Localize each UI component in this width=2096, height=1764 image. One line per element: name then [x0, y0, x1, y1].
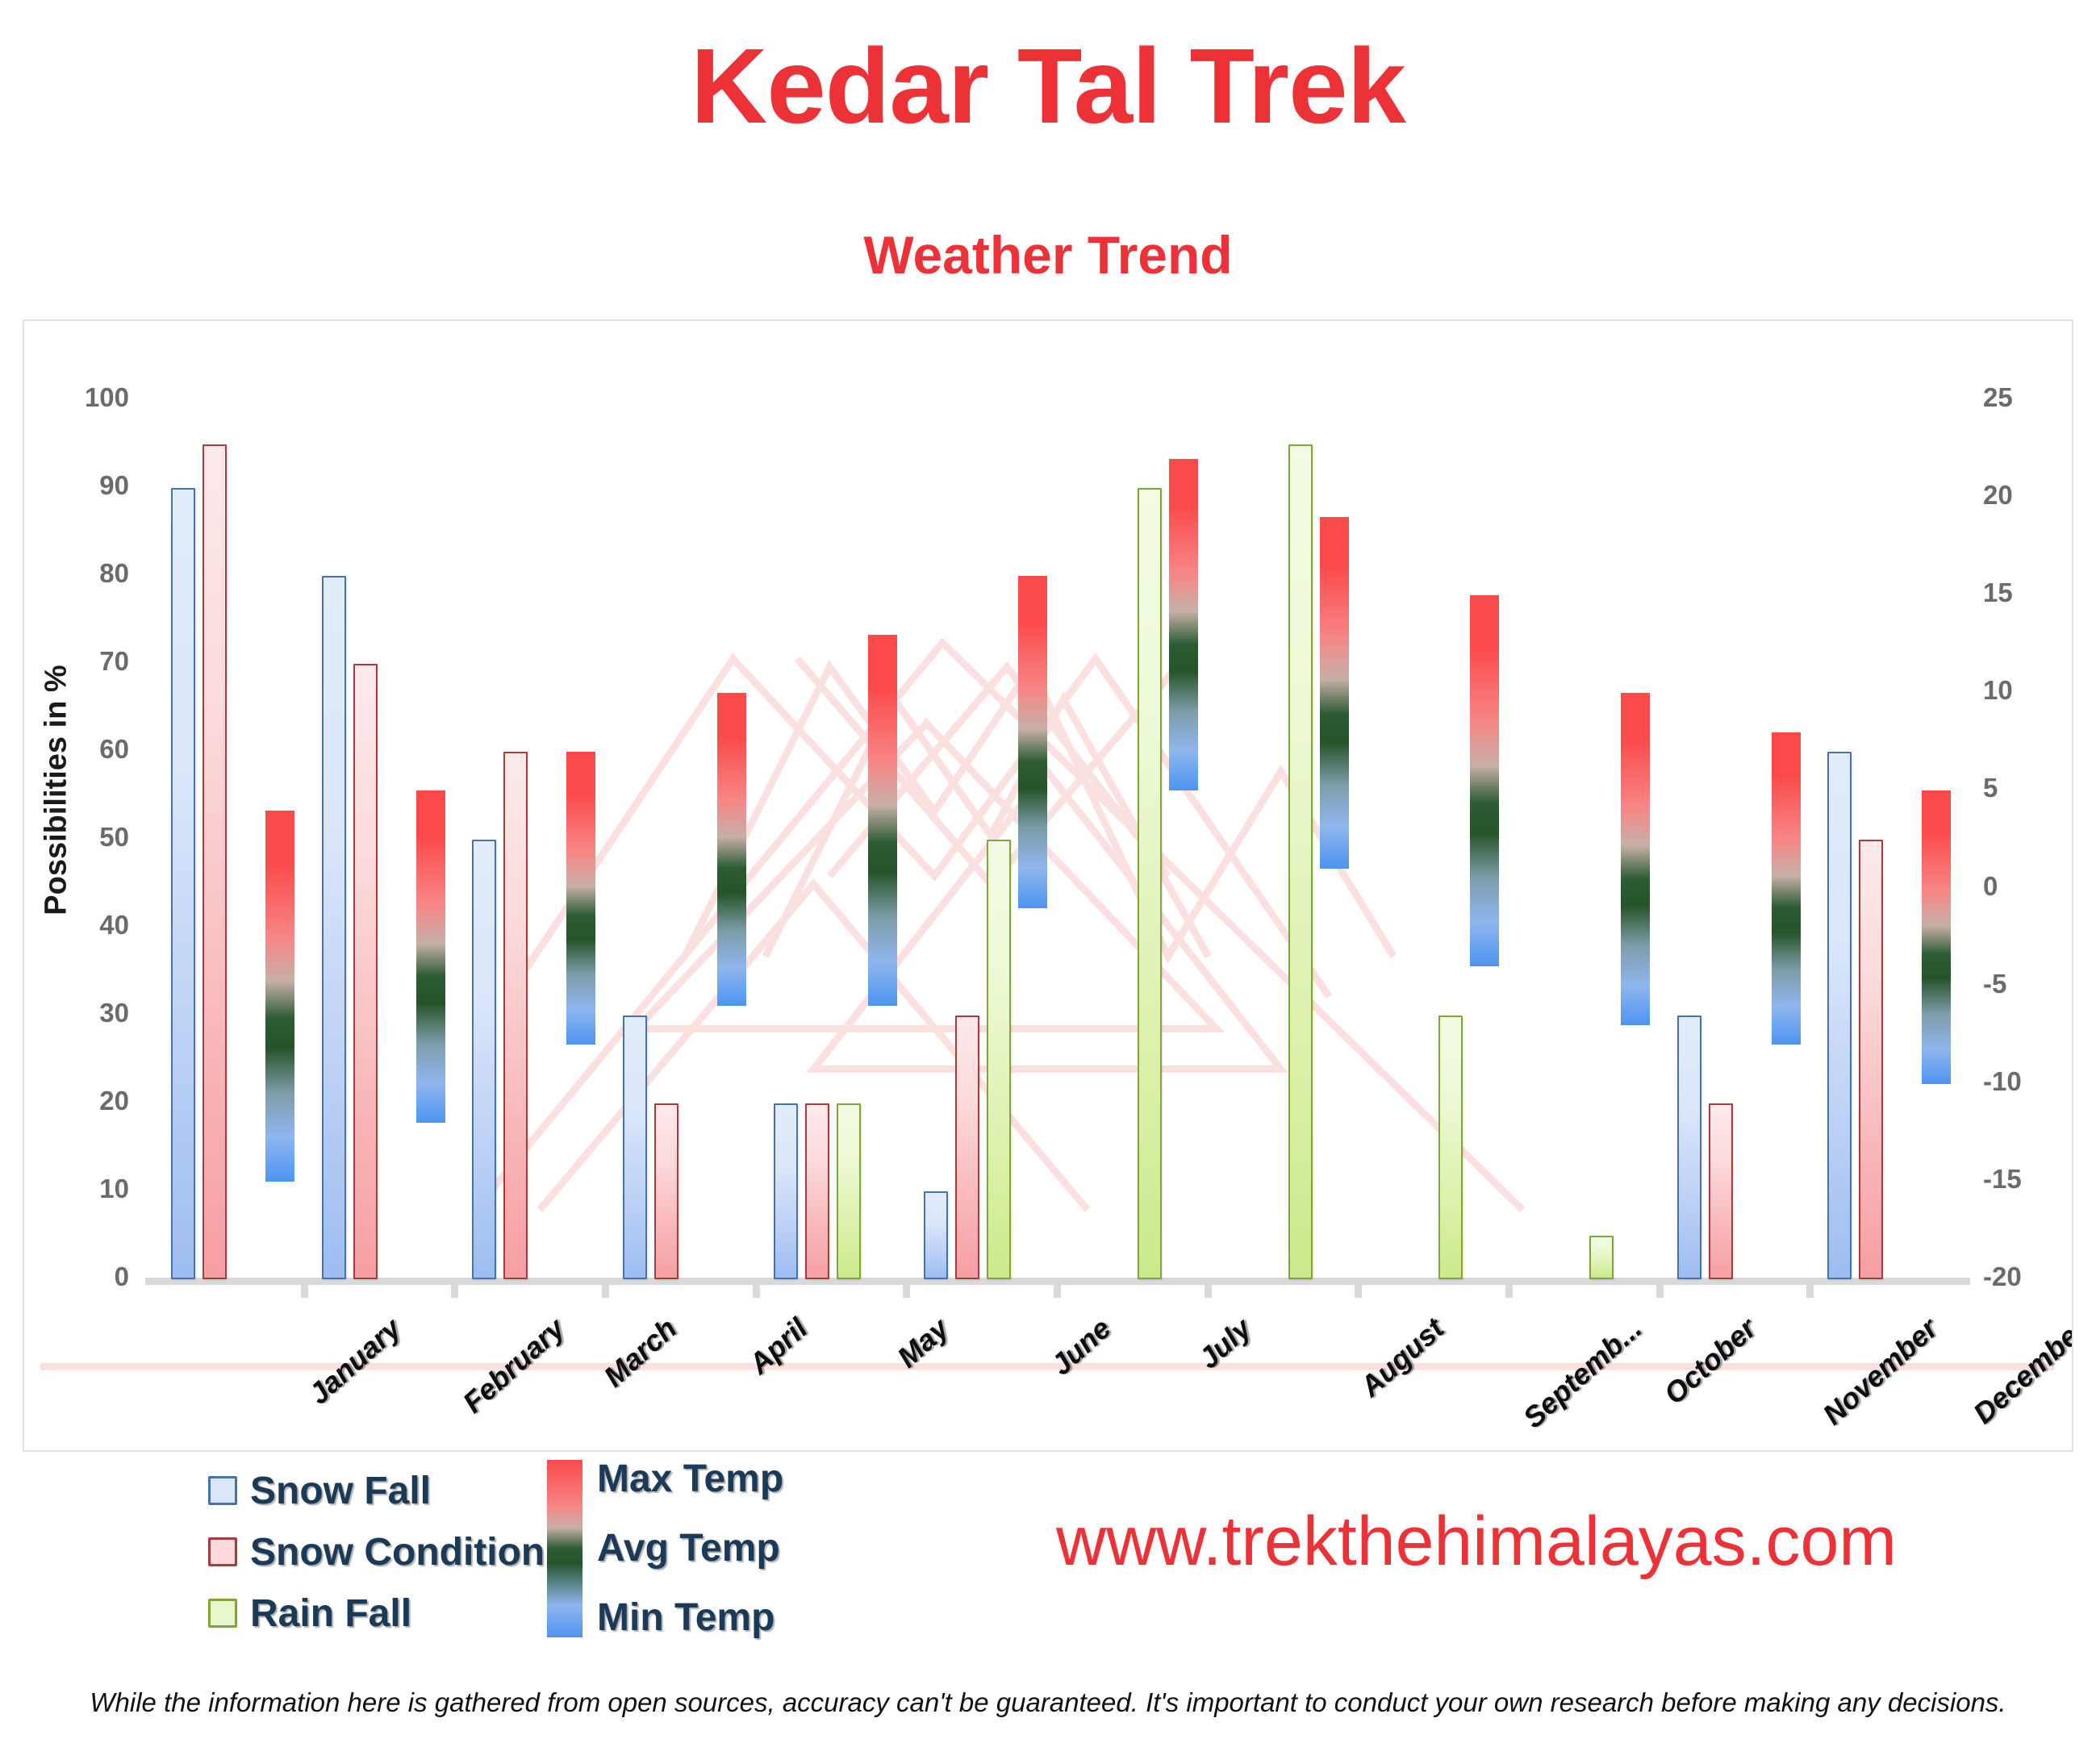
- x-axis-month-label: February: [457, 1312, 572, 1420]
- y-tick-label-right: -20: [1983, 1261, 2072, 1292]
- month-bar-group: [153, 400, 304, 1279]
- y-tick-label-left: 0: [40, 1261, 129, 1292]
- y-tick-label-right: 0: [1983, 871, 2072, 902]
- snow-fall-bar[interactable]: [774, 1103, 798, 1279]
- y-tick-label-left: 20: [40, 1086, 129, 1116]
- snow-fall-bar[interactable]: [924, 1191, 948, 1279]
- x-axis-tick: [451, 1285, 458, 1298]
- snow-condition-bar[interactable]: [203, 444, 227, 1280]
- website-url[interactable]: www.trekthehimalayas.com: [928, 1502, 2025, 1582]
- rain-fall-bar[interactable]: [1288, 444, 1313, 1280]
- y-tick-label-right: 15: [1983, 578, 2072, 608]
- legend-item-snow-condition[interactable]: Snow Condition: [208, 1521, 545, 1583]
- rain-fall-swatch-icon: [208, 1599, 237, 1628]
- y-tick-label-right: -15: [1983, 1164, 2072, 1195]
- y-tick-label-left: 60: [40, 734, 129, 765]
- y-tick-label-left: 100: [40, 382, 129, 413]
- y-tick-label-left: 40: [40, 910, 129, 940]
- rain-fall-bar[interactable]: [837, 1103, 861, 1279]
- snow-condition-bar[interactable]: [805, 1103, 829, 1279]
- month-bar-group: [1208, 400, 1359, 1279]
- snow-fall-swatch-icon: [208, 1476, 237, 1505]
- x-axis-month-label: June: [1044, 1312, 1117, 1382]
- y-tick-label-left: 70: [40, 646, 129, 677]
- month-bar-group: [605, 400, 756, 1279]
- snow-fall-bar[interactable]: [472, 840, 496, 1279]
- legend-item-min-temp[interactable]: Min Temp: [597, 1599, 783, 1637]
- snow-fall-bar[interactable]: [1677, 1015, 1701, 1279]
- x-axis-month-label: August: [1354, 1312, 1451, 1403]
- rain-fall-bar[interactable]: [1438, 1015, 1463, 1279]
- y-tick-label-left: 50: [40, 822, 129, 853]
- legend-item-rain-fall[interactable]: Rain Fall: [208, 1583, 545, 1644]
- temperature-range-bar[interactable]: [1470, 595, 1499, 966]
- legend-item-label: Snow Fall: [250, 1469, 431, 1513]
- snow-fall-bar[interactable]: [623, 1015, 647, 1279]
- month-bar-group: [1810, 400, 1960, 1279]
- month-bar-group: [1660, 400, 1810, 1279]
- x-axis-month-label: May: [891, 1312, 955, 1374]
- legend-item-snow-fall[interactable]: Snow Fall: [208, 1460, 545, 1521]
- plot-area: [153, 400, 1960, 1279]
- legend-series-column: Snow Fall Snow Condition Rain Fall: [208, 1460, 545, 1644]
- temperature-range-bar[interactable]: [868, 635, 897, 1006]
- y-tick-label-left: 90: [40, 470, 129, 501]
- x-axis-month-label: November: [1816, 1312, 1944, 1432]
- x-axis-month-label: April: [742, 1312, 814, 1381]
- rain-fall-bar[interactable]: [1138, 488, 1162, 1279]
- x-axis-tick: [1054, 1285, 1061, 1298]
- x-axis-tick: [602, 1285, 609, 1298]
- snow-condition-bar[interactable]: [1859, 840, 1883, 1279]
- x-axis-month-label: January: [303, 1312, 408, 1412]
- weather-trend-poster: Kedar Tal Trek Weather Trend Possibiliti…: [0, 0, 2096, 1764]
- x-axis-tick: [1205, 1285, 1212, 1298]
- snow-condition-bar[interactable]: [353, 664, 378, 1279]
- snow-condition-bar[interactable]: [955, 1015, 979, 1279]
- month-bar-group: [454, 400, 605, 1279]
- page-title: Kedar Tal Trek: [0, 31, 2096, 143]
- snow-condition-bar[interactable]: [654, 1103, 678, 1279]
- temperature-range-bar[interactable]: [1772, 732, 1801, 1045]
- x-axis-tick: [1806, 1285, 1814, 1298]
- snow-fall-bar[interactable]: [322, 576, 346, 1279]
- temperature-gradient-icon: [547, 1460, 582, 1637]
- temperature-range-bar[interactable]: [566, 752, 595, 1045]
- legend-item-max-temp[interactable]: Max Temp: [597, 1460, 783, 1499]
- y-tick-label-left: 30: [40, 998, 129, 1028]
- month-bar-group: [756, 400, 907, 1279]
- month-bar-group: [1358, 400, 1509, 1279]
- x-axis-month-label: December: [1966, 1312, 2073, 1431]
- legend-item-label: Snow Condition: [250, 1530, 545, 1574]
- temperature-range-bar[interactable]: [1169, 459, 1198, 791]
- snow-condition-swatch-icon: [208, 1537, 237, 1566]
- month-bar-group: [906, 400, 1057, 1279]
- legend-item-avg-temp[interactable]: Avg Temp: [597, 1529, 783, 1568]
- y-tick-label-left: 80: [40, 558, 129, 589]
- temperature-range-bar[interactable]: [416, 790, 445, 1123]
- temperature-range-bar[interactable]: [717, 693, 746, 1006]
- legend-temperature-column: Max Temp Avg Temp Min Temp: [547, 1460, 783, 1637]
- temperature-range-bar[interactable]: [265, 811, 294, 1182]
- x-axis-tick: [1505, 1285, 1513, 1298]
- temperature-range-bar[interactable]: [1621, 693, 1650, 1025]
- temperature-range-bar[interactable]: [1018, 576, 1047, 908]
- x-axis-month-label: October: [1658, 1312, 1764, 1412]
- snow-fall-bar[interactable]: [171, 488, 195, 1279]
- month-bar-group: [304, 400, 455, 1279]
- y-tick-label-left: 10: [40, 1174, 129, 1204]
- snow-condition-bar[interactable]: [1709, 1103, 1733, 1279]
- y-tick-label-right: 25: [1983, 382, 2072, 413]
- legend-item-label: Rain Fall: [250, 1591, 411, 1636]
- x-axis-tick: [1355, 1285, 1362, 1298]
- x-axis-month-label: July: [1192, 1312, 1259, 1375]
- x-axis-tick: [903, 1285, 910, 1298]
- month-bar-group: [1057, 400, 1208, 1279]
- snow-condition-bar[interactable]: [503, 752, 528, 1279]
- snow-fall-bar[interactable]: [1827, 752, 1852, 1279]
- y-tick-label-right: 20: [1983, 480, 2072, 511]
- disclaimer-text: While the information here is gathered f…: [0, 1687, 2096, 1718]
- temperature-range-bar[interactable]: [1320, 517, 1349, 869]
- y-tick-label-right: 10: [1983, 675, 2072, 706]
- x-axis-tick: [1656, 1285, 1664, 1298]
- y-tick-label-right: -5: [1983, 969, 2072, 999]
- rain-fall-bar[interactable]: [987, 840, 1011, 1279]
- month-bar-group: [1509, 400, 1660, 1279]
- chart-frame: Possibilities in % Temperature in °C 010…: [23, 319, 2073, 1452]
- x-axis-month-label: March: [597, 1312, 683, 1394]
- x-axis-month-label: Septemb...: [1516, 1312, 1647, 1435]
- rain-fall-bar[interactable]: [1589, 1236, 1614, 1280]
- temperature-range-bar[interactable]: [1922, 790, 1951, 1083]
- page-subtitle: Weather Trend: [0, 224, 2096, 286]
- y-tick-label-right: 5: [1983, 773, 2072, 803]
- x-axis-tick: [301, 1285, 308, 1298]
- x-axis-tick: [753, 1285, 760, 1298]
- y-tick-label-right: -10: [1983, 1066, 2072, 1097]
